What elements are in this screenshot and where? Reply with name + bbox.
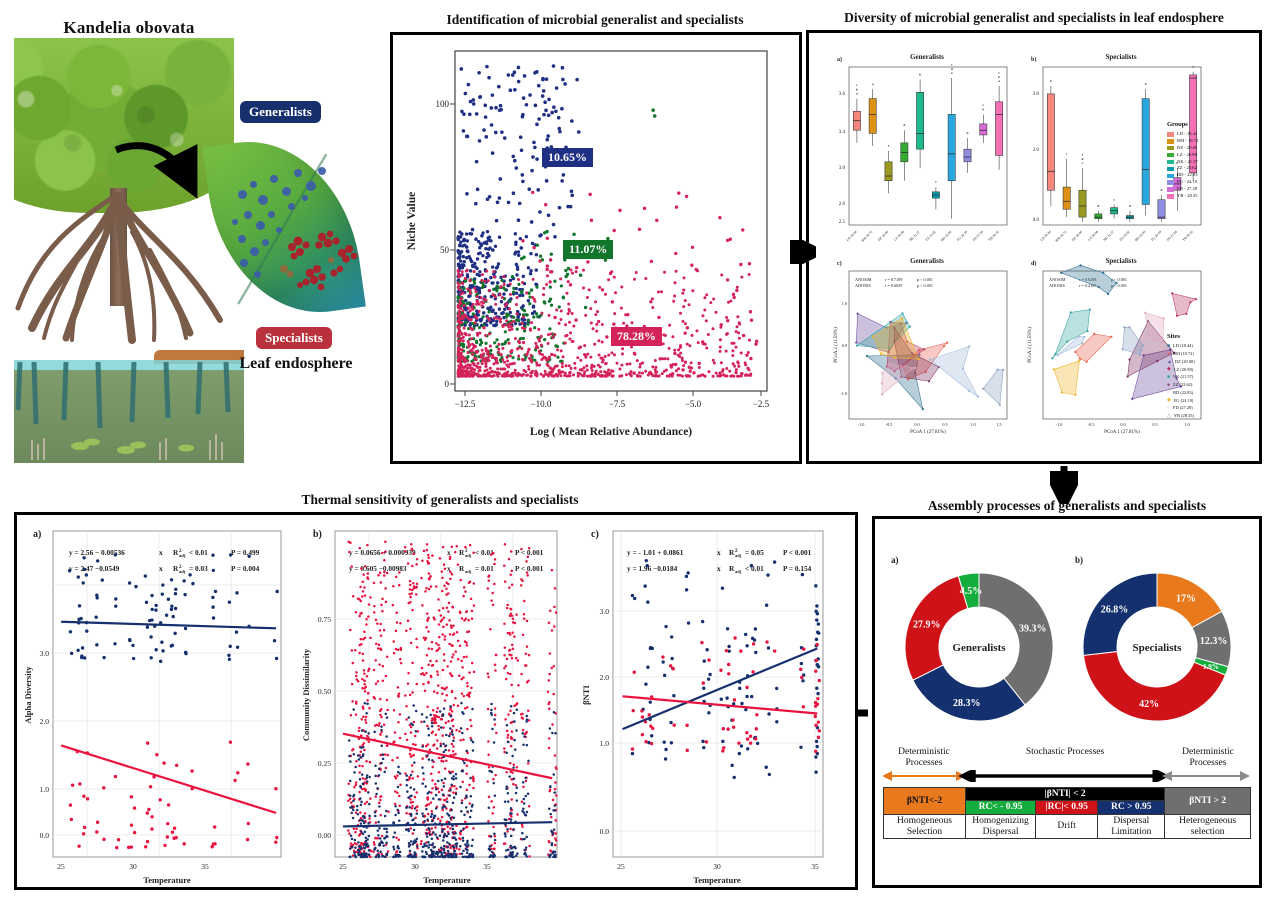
svg-text:0.0: 0.0 [600,827,610,836]
table-header-deterministic-right: Deterministic Processes [1165,747,1251,769]
svg-text:x: x [717,548,721,557]
legend-label: FD (27.28) [1173,405,1193,412]
svg-text:0.00: 0.00 [318,831,331,840]
svg-text:adj: adj [735,553,742,558]
assembly-panel-title: Assembly processes of generalists and sp… [872,498,1262,514]
svg-text:adj: adj [179,553,186,558]
legend-swatch [1167,160,1174,165]
svg-text:a: a [856,92,858,96]
groups-legend-item: FG - 24.19 [1167,179,1257,186]
svg-text:35: 35 [483,862,491,871]
generalists-badge: Generalists [240,101,321,123]
legend-label: DZ (20.00) [1175,359,1195,366]
svg-text:BM-19.72: BM-19.72 [1055,230,1068,243]
thermal-svg: a) 0.01.0 2.03.0 253035 Temperature Alph… [17,515,855,887]
sites-legend-title: Sites [1167,333,1257,340]
svg-text:28.3%: 28.3% [953,698,981,709]
svg-text:−12.5: −12.5 [455,399,476,409]
svg-text:d: d [903,123,905,127]
svg-text:a: a [1192,65,1194,69]
svg-text:adj: adj [179,569,186,574]
svg-text:YB-28.35: YB-28.35 [987,230,1000,243]
legend-swatch [1167,174,1174,179]
panel-b-ylabel: Community Dissimilarity [301,648,311,741]
groups-legend-item: YB - 28.35 [1167,193,1257,200]
svg-text:100: 100 [436,99,450,109]
svg-text:-1.0: -1.0 [840,391,847,396]
groups-legend-item: BM - 19.72 [1167,138,1257,145]
sites-legend-item: △YB (28.35) [1167,413,1257,421]
donut-a-center-label: Generalists [952,642,1006,654]
legend-label: FD - 27.28 [1177,186,1197,193]
svg-text:Generalists: Generalists [910,53,944,61]
sites-legend-item: ◆LZ (20.98) [1167,366,1257,374]
svg-text:b: b [1145,82,1147,86]
process-table-wrapper: Deterministic Processes Stochastic Proce… [883,747,1251,839]
panel-c-ylabel: βNTI [581,685,591,705]
svg-text:2.6: 2.6 [839,202,846,207]
svg-text:x: x [717,564,721,573]
table-header-deterministic-left: Deterministic Processes [883,747,965,769]
svg-text:ADONIS: ADONIS [855,283,871,288]
svg-text:d): d) [1031,260,1036,267]
svg-text:26.8%: 26.8% [1101,605,1129,616]
process-range-arrows [883,770,1251,782]
sites-legend-item: ■NK (21.57) [1167,374,1257,382]
svg-text:27.9%: 27.9% [913,620,941,631]
svg-text:= 0.03: = 0.03 [189,564,208,573]
legend-marker: ● [1167,351,1170,359]
svg-text:a): a) [33,529,41,540]
svg-text:FD-27.28: FD-27.28 [972,230,984,242]
neutral-percent-badge: 11.07% [563,240,613,259]
svg-text:2.0: 2.0 [1033,148,1040,153]
svg-text:LD-18.44: LD-18.44 [845,230,857,242]
svg-text:= 0.05: = 0.05 [745,548,764,557]
svg-text:Specialists: Specialists [1105,257,1136,265]
donut-b-center-label: Specialists [1133,642,1183,654]
legend-swatch [1167,146,1174,151]
groups-legend-item: NK - 21.57 [1167,159,1257,166]
svg-text:ZZ-23.62: ZZ-23.62 [1119,230,1131,242]
svg-text:30: 30 [411,862,419,871]
svg-text:P < 0.001: P < 0.001 [783,548,812,557]
svg-text:ZZ-23.62: ZZ-23.62 [925,230,937,242]
cell-rc-abs-lt-095: |RC|< 0.95 [1036,801,1098,815]
svg-text:0.0: 0.0 [1120,422,1125,427]
svg-text:DZ-20.00: DZ-20.00 [877,230,889,242]
svg-text:PCoA 1 (27.81%): PCoA 1 (27.81%) [910,430,946,435]
sites-legend-item: ○FD (27.28) [1167,405,1257,413]
svg-text:1.9%: 1.9% [1203,663,1219,671]
groups-legend-item: LZ - 20.98 [1167,152,1257,159]
panel-a-ylabel: Alpha Diversity [23,666,33,724]
svg-text:r = 0.7189: r = 0.7189 [885,277,902,282]
legend-label: BM (19.72) [1173,351,1194,358]
svg-text:b): b) [1075,555,1083,565]
svg-text:y = 0.605 −0.00983: y = 0.605 −0.00983 [349,564,407,573]
svg-text:3.0: 3.0 [600,607,610,616]
svg-text:r = 0.6029: r = 0.6029 [885,283,902,288]
leaf-endosphere-caption: Leaf endosphere [196,355,396,373]
svg-text:1.0: 1.0 [842,301,847,306]
cell-bnti-gt-2: βNTI > 2 [1165,787,1251,814]
svg-text:DZ-20.00: DZ-20.00 [1071,230,1083,242]
sites-legend-item: ■LD (18.44) [1167,343,1257,351]
svg-text:3.0: 3.0 [1033,92,1040,97]
svg-text:1.0: 1.0 [40,785,50,794]
svg-text:= 0.01: = 0.01 [475,564,494,573]
legend-label: ZZ (23.62) [1173,382,1192,389]
svg-text:25: 25 [339,862,347,871]
legend-label: LD - 18.44 [1177,131,1197,138]
cell-bnti-lt-neg2: βNTI<-2 [884,787,966,814]
svg-text:x: x [447,548,451,557]
svg-text:-1.0: -1.0 [1056,422,1063,427]
leaf-endosphere-diagram: Generalists Specialists [196,95,381,385]
assembly-processes-panel: a) b) Generalists Specialists 39.3%28.3%… [872,516,1262,888]
svg-text:c): c) [837,260,842,267]
donuts-svg: a) b) Generalists Specialists 39.3%28.3%… [875,519,1259,755]
cell-dispersal-limitation: Dispersal Limitation [1098,815,1165,839]
svg-text:4.5%: 4.5% [960,586,983,597]
svg-text:x: x [159,564,163,573]
svg-text:FD-27.28: FD-27.28 [1166,230,1178,242]
svg-text:−2.5: −2.5 [753,399,770,409]
sites-legend-item: ◆FG (24.19) [1167,397,1257,405]
sites-legend-item: ▲DZ (20.00) [1167,359,1257,367]
panel-c-xlabel: Temperature [693,875,740,885]
svg-text:BD-22.83: BD-22.83 [1134,230,1147,243]
svg-text:2.0: 2.0 [600,673,610,682]
svg-text:BM-19.72: BM-19.72 [861,230,874,243]
legend-label: BD - 22.83 [1177,172,1198,179]
thermal-sensitivity-panel: a) 0.01.0 2.03.0 253035 Temperature Alph… [14,512,858,890]
svg-text:0.0: 0.0 [1033,218,1040,223]
svg-text:adj: adj [465,553,472,558]
svg-text:0.25: 0.25 [318,759,331,768]
legend-swatch [1167,132,1174,137]
svg-text:adj: adj [735,569,742,574]
legend-label: BD (22.83) [1173,390,1193,397]
svg-text:0.75: 0.75 [318,615,331,624]
arrow-scatter-to-diversity [790,240,816,264]
groups-legend-item: DZ - 20.00 [1167,145,1257,152]
svg-text:-1.0: -1.0 [858,422,865,427]
specialist-clusters [276,225,366,317]
svg-text:d: d [1129,204,1131,208]
svg-text:ANOSIM: ANOSIM [1049,277,1066,282]
svg-text:b: b [982,107,984,111]
diversity-panel-title: Diversity of microbial generalist and sp… [806,10,1262,26]
legend-label: LD (18.44) [1173,343,1193,350]
svg-text:PCoA 1 (27.81%): PCoA 1 (27.81%) [1104,430,1140,435]
svg-text:25: 25 [617,862,625,871]
scatter-panel-title: Identification of microbial generalist a… [390,12,800,28]
svg-text:0.0: 0.0 [842,343,847,348]
svg-text:b: b [919,73,921,77]
svg-text:LZ-20.98: LZ-20.98 [893,230,905,242]
legend-label: YB (28.35) [1174,413,1194,420]
legend-marker: ◆ [1167,366,1171,374]
legend-marker: △ [1167,413,1171,421]
sites-legend-item: ○BD (22.83) [1167,390,1257,398]
svg-text:x: x [159,548,163,557]
organism-name: Kandelia obovata [14,18,244,38]
legend-label: DZ - 20.00 [1177,145,1197,152]
legend-marker: ○ [1167,390,1170,398]
svg-text:d: d [951,67,953,71]
legend-label: NK (21.57) [1173,374,1193,381]
legend-marker: ◆ [1167,397,1171,405]
scatter-ylabel: Niche Value [406,192,418,250]
svg-text:a: a [951,71,953,75]
svg-text:P < 0.001: P < 0.001 [515,564,544,573]
groups-legend-item: ZZ - 23.62 [1167,165,1257,172]
svg-text:Generalists: Generalists [910,257,944,265]
panel-b-xlabel: Temperature [423,875,470,885]
legend-swatch [1167,194,1174,199]
groups-legend: Groups LD - 18.44BM - 19.72DZ - 20.00LZ … [1167,121,1257,200]
svg-text:a: a [872,82,874,86]
svg-text:0.0: 0.0 [914,422,919,427]
svg-text:0: 0 [445,379,450,389]
svg-text:c): c) [591,529,599,540]
svg-text:1.0: 1.0 [600,739,610,748]
scatter-xlabel: Log ( Mean Relative Abundance) [530,426,692,438]
svg-text:39.3%: 39.3% [1019,624,1047,635]
svg-text:d: d [1097,204,1099,208]
sites-legend-item: ●BM (19.72) [1167,351,1257,359]
generalist-percent-badge: 10.65% [542,148,593,167]
cell-rc-gt-095: RC > 0.95 [1098,801,1165,815]
svg-text:−7.5: −7.5 [609,399,626,409]
svg-text:−10.0: −10.0 [531,399,552,409]
niche-scatter-panel: 100500 −12.5−10.0 −7.5−5.0−2.5 Log ( Mea… [390,32,802,464]
svg-text:< 0.01: < 0.01 [745,564,764,573]
svg-text:d: d [1082,157,1084,161]
svg-text:b: b [1050,79,1052,83]
svg-text:< 0.01: < 0.01 [189,548,208,557]
svg-text:d: d [1161,188,1163,192]
svg-text:FG-24.19: FG-24.19 [1150,230,1162,242]
svg-text:42%: 42% [1139,699,1159,710]
groups-legend-item: BD - 22.83 [1167,172,1257,179]
svg-text:b: b [998,75,1000,79]
svg-text:3.0: 3.0 [40,649,50,658]
svg-text:30: 30 [129,862,137,871]
svg-text:b: b [856,87,858,91]
cell-homogenizing-dispersal: Homogenizing Dispersal [966,815,1036,839]
legend-marker: ● [1167,382,1170,390]
donut-slice [913,665,1025,721]
svg-text:ANOSIM: ANOSIM [855,277,872,282]
svg-text:p < 0.001: p < 0.001 [917,277,933,282]
legend-marker: ○ [1167,405,1170,413]
svg-text:a: a [998,79,1000,83]
donut-slice [979,573,1053,705]
cell-homogeneous-selection: Homogeneous Selection [884,815,966,839]
svg-text:p < 0.001: p < 0.001 [917,283,933,288]
legend-swatch [1167,139,1174,144]
legend-swatch [1167,187,1174,192]
svg-text:-0.5: -0.5 [886,422,893,427]
svg-text:1.0: 1.0 [1184,422,1189,427]
specialist-percent-badge: 78.28% [611,327,662,346]
flow-arrow-to-leaf [112,140,208,206]
svg-text:BD-22.83: BD-22.83 [940,230,953,243]
svg-text:2.0: 2.0 [40,717,50,726]
thermal-panel-title: Thermal sensitivity of generalists and s… [70,492,810,508]
svg-text:adj: adj [465,569,472,574]
groups-legend-title: Groups [1167,121,1257,128]
sites-legend-item: ●ZZ (23.62) [1167,382,1257,390]
legend-label: LZ - 20.98 [1177,152,1197,159]
svg-text:50: 50 [440,245,450,255]
legend-label: FG - 24.19 [1177,179,1197,186]
svg-text:12.3%: 12.3% [1200,636,1228,647]
svg-text:y = 1.96 −0.0184: y = 1.96 −0.0184 [627,564,678,573]
legend-marker: ■ [1167,374,1170,382]
svg-text:3.6: 3.6 [839,92,846,97]
svg-text:LD-18.44: LD-18.44 [1039,230,1051,242]
legend-label: ZZ - 23.62 [1177,165,1197,172]
svg-text:LZ-20.98: LZ-20.98 [1087,230,1099,242]
table-header-stochastic: Stochastic Processes [965,747,1165,769]
svg-text:0.5: 0.5 [942,422,947,427]
specialists-badge: Specialists [256,327,332,349]
svg-text:P = 0.004: P = 0.004 [231,564,260,573]
svg-text:FG-24.19: FG-24.19 [956,230,968,242]
svg-text:−5.0: −5.0 [685,399,702,409]
panel-a-xlabel: Temperature [143,875,190,885]
svg-text:3.4: 3.4 [839,130,846,135]
svg-text:a): a) [891,555,899,565]
legend-swatch [1167,153,1174,158]
svg-text:b): b) [313,529,322,540]
svg-text:2.5: 2.5 [839,220,846,225]
cell-rc-lt-neg095: RC< - 0.95 [966,801,1036,815]
legend-label: NK - 21.57 [1177,159,1198,166]
svg-text:NK-21.57: NK-21.57 [908,230,921,243]
groups-legend-item: FD - 27.28 [1167,186,1257,193]
svg-text:1.5: 1.5 [996,422,1001,427]
svg-text:1.0: 1.0 [970,422,975,427]
sites-legend: Sites ■LD (18.44)●BM (19.72)▲DZ (20.00)◆… [1167,333,1257,421]
legend-swatch [1167,180,1174,185]
svg-text:35: 35 [201,862,209,871]
cell-heterogeneous-selection: Heterogeneous selection [1165,815,1251,839]
svg-text:3.0: 3.0 [839,166,846,171]
cell-bnti-abs-lt-2: |βNTI| < 2 [966,787,1165,801]
svg-text:a): a) [837,56,842,63]
svg-text:P = 0.154: P = 0.154 [783,564,812,573]
svg-text:ADONIS: ADONIS [1049,283,1065,288]
svg-text:PCoA 2 (11.59%): PCoA 2 (11.59%) [1028,327,1033,363]
svg-text:17%: 17% [1176,593,1196,604]
svg-text:YB-28.35: YB-28.35 [1181,230,1194,243]
svg-text:0.5: 0.5 [1152,422,1157,427]
svg-text:Specialists: Specialists [1105,53,1136,61]
svg-text:0.50: 0.50 [318,687,331,696]
legend-marker: ▲ [1167,359,1172,367]
diversity-panel: a) Generalists 3.63.4 3.02.62.5 abcLD-18… [806,30,1262,464]
svg-text:y = 2.47 −0.0549: y = 2.47 −0.0549 [69,564,120,573]
groups-legend-item: LD - 18.44 [1167,131,1257,138]
svg-text:PCoA 2 (11.59%): PCoA 2 (11.59%) [834,327,839,363]
legend-label: LZ (20.98) [1174,367,1193,374]
svg-text:30: 30 [713,862,721,871]
svg-text:NK-21.57: NK-21.57 [1102,230,1115,243]
legend-swatch [1167,167,1174,172]
legend-label: BM - 19.72 [1177,138,1198,145]
svg-text:P = 0.499: P = 0.499 [231,548,260,557]
svg-text:-0.5: -0.5 [1088,422,1095,427]
svg-text:b): b) [1031,56,1036,63]
svg-text:25: 25 [57,862,65,871]
legend-marker: ■ [1167,343,1170,351]
legend-label: YB - 28.35 [1177,193,1198,200]
svg-text:d: d [967,131,969,135]
svg-text:0.0: 0.0 [40,831,50,840]
svg-text:y = - 1.01 + 0.0861: y = - 1.01 + 0.0861 [627,548,684,557]
legend-label: FG (24.19) [1174,398,1194,405]
svg-text:35: 35 [811,862,819,871]
cell-drift: Drift [1036,815,1098,839]
